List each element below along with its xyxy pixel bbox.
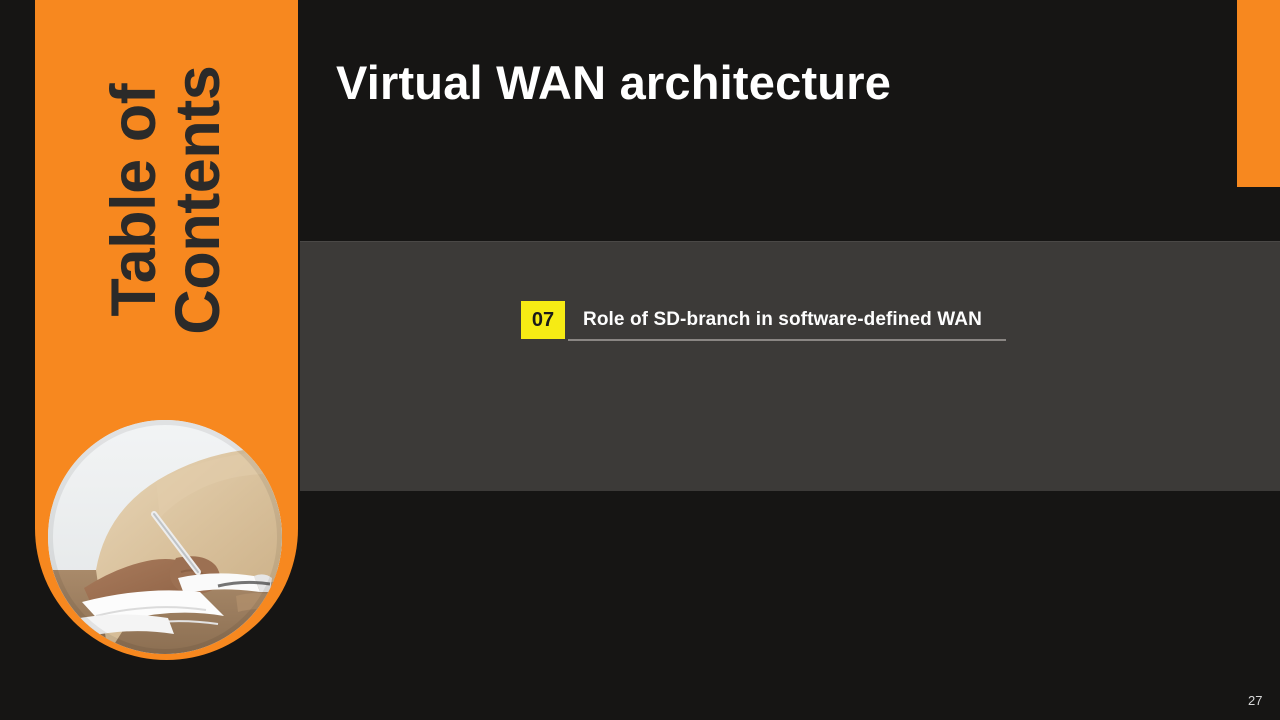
page-title-main: Virtual WAN architectur <box>336 56 865 109</box>
sidebar-heading-line-1: Table of <box>102 66 166 335</box>
toc-item-underline <box>568 339 1006 341</box>
page-number: 27 <box>1248 693 1262 708</box>
toc-item-label: Role of SD-branch in software-defined WA… <box>583 309 982 331</box>
toc-item-07[interactable]: 07 Role of SD-branch in software-defined… <box>521 301 982 339</box>
sidebar-heading-line-2: Contents <box>167 66 231 335</box>
top-right-accent-block <box>1237 0 1280 187</box>
slide-canvas: Table of Contents <box>0 0 1280 720</box>
sidebar-photo <box>48 420 282 654</box>
toc-item-label-wrap: Role of SD-branch in software-defined WA… <box>568 301 982 339</box>
page-title-tail: e <box>865 56 891 109</box>
person-writing-in-notebook-photo <box>48 420 282 654</box>
page-title: Virtual WAN architecture <box>336 53 891 113</box>
toc-content-band: 07 Role of SD-branch in software-defined… <box>300 241 1280 491</box>
toc-item-number-badge: 07 <box>521 301 565 339</box>
table-of-contents-sidebar: Table of Contents <box>35 0 298 660</box>
sidebar-heading: Table of Contents <box>35 0 298 400</box>
